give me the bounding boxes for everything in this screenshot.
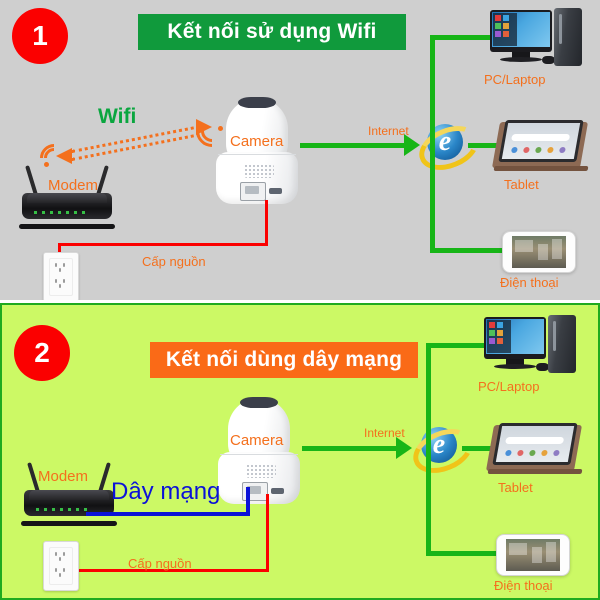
panel-wifi-connection: 1 Kết nối sử dụng Wifi Wifi xyxy=(0,0,600,300)
data-branch-vertical-down-lan xyxy=(426,446,431,556)
ip-camera-icon xyxy=(212,98,302,206)
tablet-icon-lan xyxy=(490,421,586,477)
label-camera-wifi: Camera xyxy=(230,134,283,149)
network-connection-diagram: 1 Kết nối sử dụng Wifi Wifi xyxy=(0,0,600,600)
label-modem-lan: Modem xyxy=(38,469,88,484)
desktop-pc-icon xyxy=(490,10,590,68)
data-branch-vertical-lan xyxy=(426,343,431,448)
power-cable-vertical xyxy=(265,200,268,245)
label-tablet-lan: Tablet xyxy=(498,481,533,494)
data-arrow-internet-lan xyxy=(396,437,412,459)
data-line-camera-internet xyxy=(300,143,408,148)
label-camera-lan: Camera xyxy=(230,433,283,448)
label-lan-cable: Dây mạng xyxy=(111,480,220,504)
wifi-arrow-left xyxy=(56,148,72,164)
internet-explorer-icon-lan: e xyxy=(412,423,464,473)
power-outlet-icon xyxy=(43,252,79,300)
label-power-lan: Cấp nguồn xyxy=(128,557,192,570)
power-outlet-icon-lan xyxy=(43,541,79,591)
power-cable-horizontal xyxy=(58,243,268,246)
label-pc-wifi: PC/Laptop xyxy=(484,73,545,86)
panel-number-badge-1: 1 xyxy=(12,8,68,64)
label-phone-wifi: Điện thoại xyxy=(500,276,559,289)
label-tablet-wifi: Tablet xyxy=(504,178,539,191)
label-internet-lan: Internet xyxy=(364,427,405,439)
lan-cable-horizontal xyxy=(86,512,250,516)
label-power-wifi: Cấp nguồn xyxy=(142,255,206,268)
smartphone-icon xyxy=(502,231,576,273)
label-wifi: Wifi xyxy=(98,106,136,127)
data-branch-vertical-down xyxy=(430,143,435,253)
label-modem-wifi: Modem xyxy=(48,178,98,193)
lan-cable-vertical xyxy=(246,487,250,515)
data-line-camera-internet-lan xyxy=(302,446,400,451)
panel-lan-connection: 2 Kết nối dùng dây mạng Modem Camera Dây… xyxy=(0,303,600,600)
banner-lan-title: Kết nối dùng dây mạng xyxy=(150,342,418,378)
data-branch-vertical xyxy=(430,35,435,145)
router-modem-icon xyxy=(22,165,112,225)
label-internet-wifi: Internet xyxy=(368,125,409,137)
banner-wifi-title: Kết nối sử dụng Wifi xyxy=(138,14,406,50)
label-pc-lan: PC/Laptop xyxy=(478,380,539,393)
smartphone-icon-lan xyxy=(496,534,570,576)
label-phone-lan: Điện thoại xyxy=(494,579,553,592)
power-cable-vertical-lan xyxy=(266,494,269,572)
internet-explorer-icon: e xyxy=(418,120,470,170)
ip-camera-icon-lan xyxy=(214,398,304,506)
tablet-icon xyxy=(496,118,592,174)
panel-number-badge-2: 2 xyxy=(14,325,70,381)
desktop-pc-icon-lan xyxy=(484,317,584,375)
